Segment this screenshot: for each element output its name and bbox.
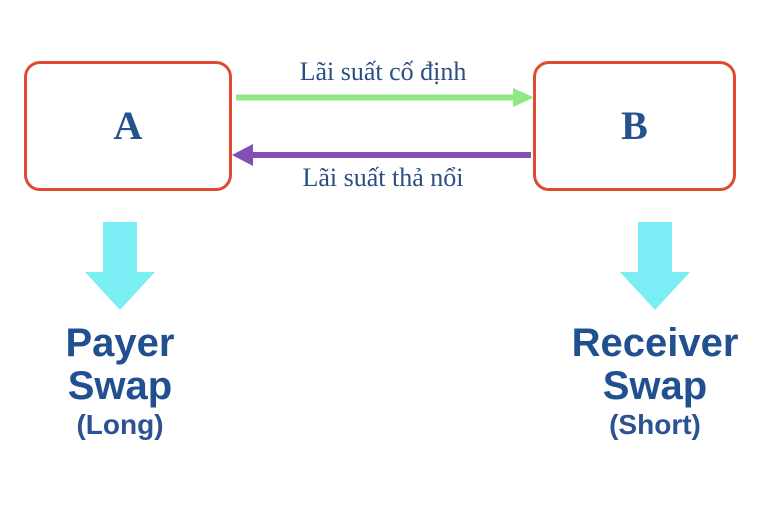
down-arrow-icon	[618, 220, 692, 312]
outcome-payer: Payer Swap (Long)	[0, 220, 250, 441]
outcome-receiver-subtitle: (Short)	[525, 410, 768, 441]
party-label-a: A	[114, 106, 143, 146]
floating-leg-caption: Lãi suất thả nổi	[223, 163, 543, 193]
party-box-a: A	[24, 61, 232, 191]
outcome-payer-subtitle: (Long)	[0, 410, 250, 441]
fixed-leg-arrow	[236, 88, 534, 107]
fixed-leg-caption: Lãi suất cố định	[223, 57, 543, 87]
down-arrow-icon	[83, 220, 157, 312]
party-box-b: B	[533, 61, 736, 191]
diagram-canvas: A B Lãi suất cố định Lãi suất thả nổi Pa…	[0, 0, 768, 512]
outcome-receiver-title: Receiver Swap	[525, 322, 768, 408]
outcome-payer-title: Payer Swap	[0, 322, 250, 408]
outcome-receiver: Receiver Swap (Short)	[525, 220, 768, 441]
party-label-b: B	[621, 106, 648, 146]
